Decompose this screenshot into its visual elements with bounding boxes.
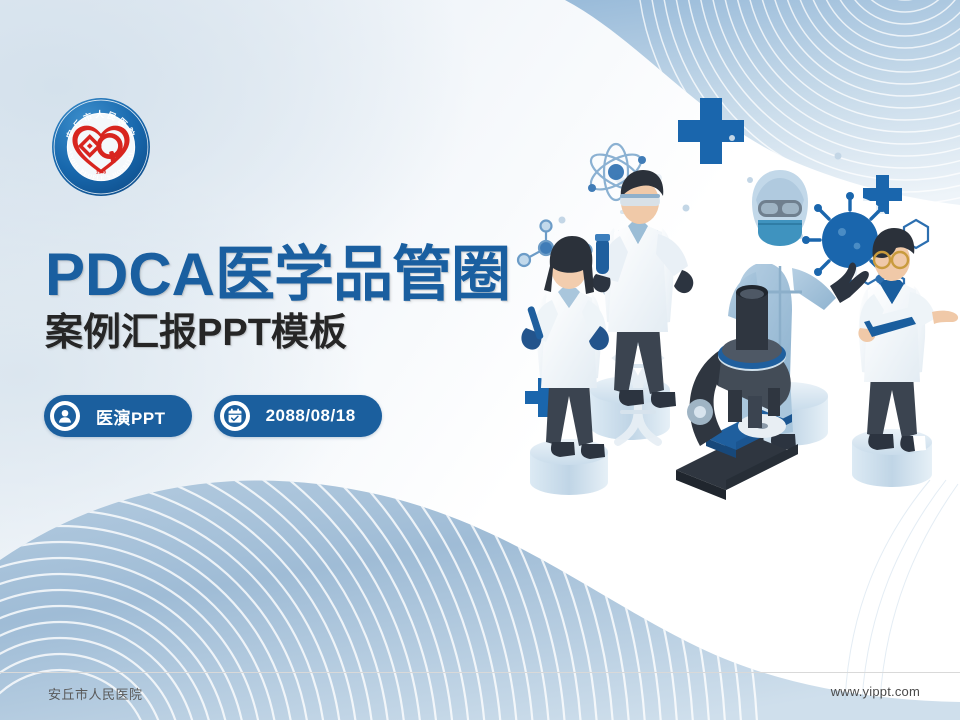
page-subtitle: 案例汇报PPT模板 bbox=[45, 313, 565, 355]
meta-badges: 医演PPT 2088/08/18 bbox=[44, 395, 382, 437]
footer-organization: 安丘市人民医院 bbox=[48, 684, 143, 703]
scientist-with-clipboard-figure bbox=[858, 228, 958, 452]
footer-website[interactable]: www.yippt.com bbox=[831, 684, 920, 699]
medical-research-illustration bbox=[500, 60, 960, 510]
presentation-slide: 安丘市人民医院 ANQIU PEOPLE'S HOSPITAL 1948 bbox=[0, 0, 960, 720]
title-cjk: 医学品管圈 bbox=[215, 241, 510, 308]
medical-cross-icon bbox=[678, 98, 744, 164]
title-block: PDCA医学品管圈 案例汇报PPT模板 bbox=[45, 244, 565, 355]
author-badge[interactable]: 医演PPT bbox=[44, 395, 192, 437]
svg-text:1948: 1948 bbox=[96, 170, 107, 175]
author-label: 医演PPT bbox=[96, 404, 166, 429]
date-badge[interactable]: 2088/08/18 bbox=[214, 395, 382, 437]
footer-divider bbox=[0, 672, 960, 673]
calendar-check-icon bbox=[220, 401, 250, 431]
user-icon bbox=[50, 401, 80, 431]
hospital-logo: 安丘市人民医院 ANQIU PEOPLE'S HOSPITAL 1948 bbox=[50, 96, 152, 198]
title-latin: PDCA bbox=[45, 241, 215, 308]
date-label: 2088/08/18 bbox=[266, 406, 356, 426]
test-tube-icon bbox=[595, 234, 610, 274]
page-title: PDCA医学品管圈 bbox=[45, 244, 565, 305]
